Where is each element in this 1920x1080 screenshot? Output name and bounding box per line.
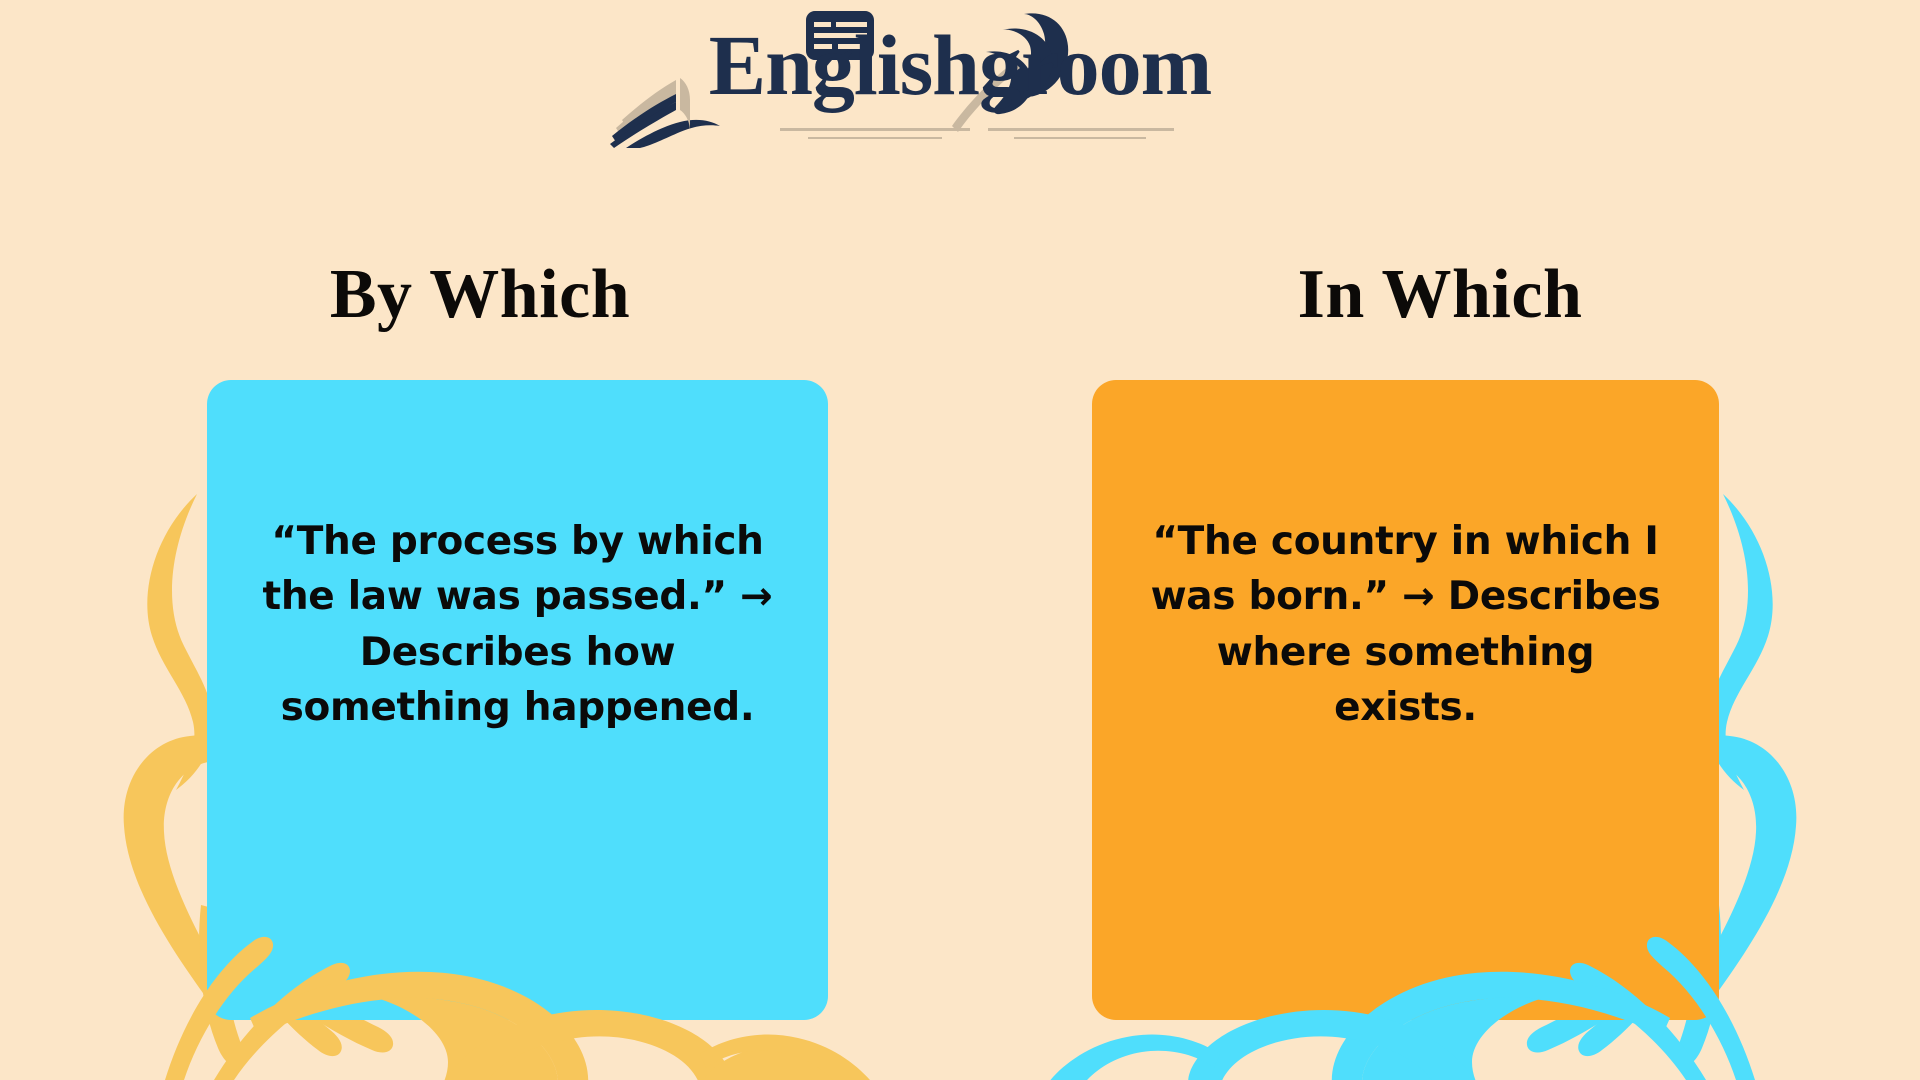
infographic-canvas: “The process by which the law was passed…	[0, 0, 1920, 1080]
brand-logo[interactable]: Englishgroom	[0, 8, 1920, 148]
column-headings: By Which In Which	[0, 250, 1920, 340]
logo-underline-rules	[780, 128, 1174, 139]
in-which-card[interactable]: “The country in which I was born.” → Des…	[1092, 380, 1719, 1020]
by-which-card-text: “The process by which the law was passed…	[245, 514, 790, 736]
by-which-card[interactable]: “The process by which the law was passed…	[207, 380, 828, 1020]
heading-cell-right: In Which	[960, 250, 1920, 340]
in-which-heading: In Which	[1298, 260, 1583, 330]
comparison-cards: “The process by which the law was passed…	[0, 380, 1920, 1020]
heading-cell-left: By Which	[0, 250, 960, 340]
by-which-heading: By Which	[330, 260, 630, 330]
in-which-card-text: “The country in which I was born.” → Des…	[1141, 514, 1671, 736]
logo-wordmark: Englishgroom	[610, 22, 1310, 108]
